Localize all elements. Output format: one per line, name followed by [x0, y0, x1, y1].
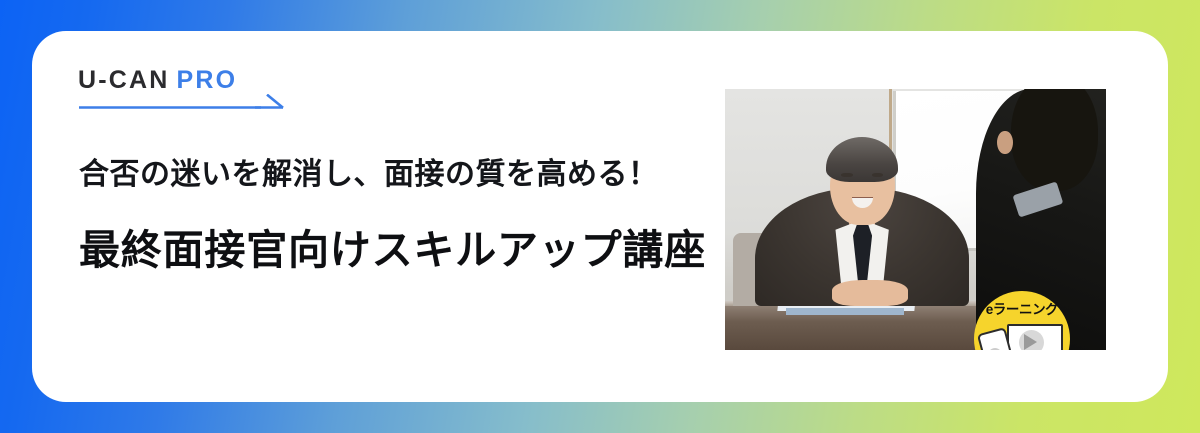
photo-candidate-head: [1011, 89, 1099, 191]
logo-wordmark: U-CANPRO: [78, 65, 237, 95]
elearning-badge-label: eラーニング: [974, 303, 1070, 317]
arrow-right-up-icon: [79, 94, 284, 111]
banner-headline: 最終面接官向けスキルアップ講座: [79, 223, 706, 277]
promo-banner: U-CANPRO 合否の迷いを解消し、面接の質を高める！ 最終面接官向けスキルア…: [0, 0, 1200, 433]
photo-interviewer-eye-left: [841, 173, 852, 177]
photo-interviewer-eye-right: [872, 173, 883, 177]
photo-documents-accent: [786, 308, 904, 315]
banner-subheadline: 合否の迷いを解消し、面接の質を高める！: [79, 155, 659, 195]
logo-brand-primary: U-CAN: [78, 66, 170, 94]
photo-candidate-ear: [997, 131, 1012, 154]
interview-photo: eラーニング: [725, 89, 1106, 350]
photo-interviewer-hands: [832, 280, 908, 306]
logo-brand-secondary: PRO: [177, 66, 238, 94]
laptop-play-triangle: [1024, 334, 1037, 350]
ucan-pro-logo[interactable]: U-CANPRO: [78, 65, 288, 111]
banner-card: U-CANPRO 合否の迷いを解消し、面接の質を高める！ 最終面接官向けスキルア…: [32, 31, 1168, 402]
